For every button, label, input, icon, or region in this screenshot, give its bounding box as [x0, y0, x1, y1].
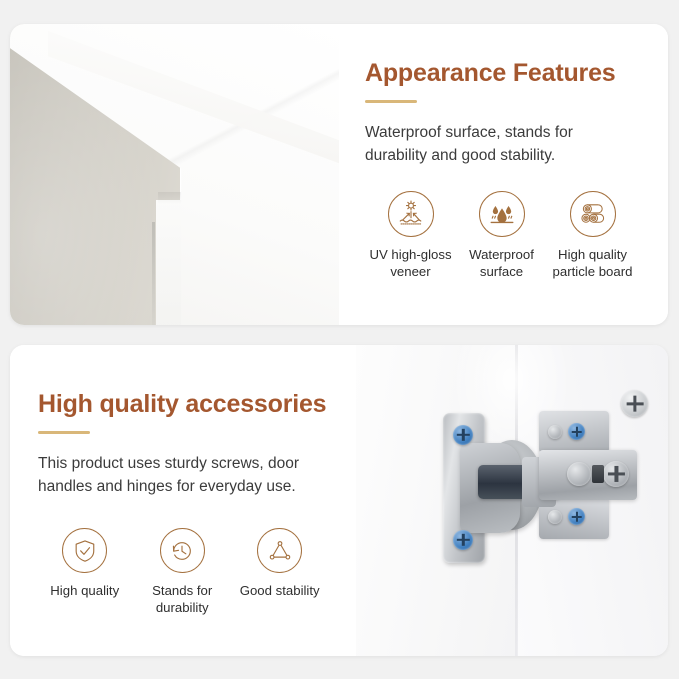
hinge-slot	[592, 465, 604, 483]
title-underline	[365, 100, 417, 103]
blue-screw-icon	[453, 530, 473, 550]
cabinet-hinge-photo	[356, 345, 668, 656]
feature-high-quality: High quality	[38, 528, 131, 616]
feature-label: UV high-gloss veneer	[365, 246, 456, 280]
cabinet-door-seam	[152, 222, 155, 325]
infographic-stage: Appearance Features Waterproof surface, …	[0, 0, 679, 679]
water-drops-icon	[479, 191, 525, 237]
adjustment-screw	[603, 461, 629, 487]
feature-good-stability: Good stability	[233, 528, 326, 616]
clock-history-icon	[160, 528, 205, 573]
appearance-feature-row: UV high-gloss veneer Wat	[365, 191, 638, 280]
accessories-feature-row: High quality Stands for durability	[38, 528, 326, 616]
high-quality-accessories-card: High quality accessories This product us…	[10, 345, 668, 656]
feature-high-quality-particle-board: High quality particle board	[547, 191, 638, 280]
feature-label: Good stability	[240, 582, 320, 599]
wood-screw-head-icon	[621, 390, 648, 417]
feature-label: Stands for durability	[135, 582, 228, 616]
blue-screw-icon	[568, 508, 585, 525]
feature-label: Waterproof surface	[456, 246, 547, 280]
uv-sun-surface-icon	[388, 191, 434, 237]
feature-uv-high-gloss-veneer: UV high-gloss veneer	[365, 191, 456, 280]
accessories-subtitle: This product uses sturdy screws, door ha…	[38, 452, 326, 499]
white-cabinet-corner-photo	[10, 24, 339, 325]
appearance-subtitle: Waterproof surface, stands for durabilit…	[365, 121, 638, 168]
page-title: Appearance Features	[365, 60, 638, 88]
blue-screw-icon	[568, 423, 585, 440]
accessories-title: High quality accessories	[38, 391, 326, 419]
shield-check-icon	[62, 528, 107, 573]
feature-label: High quality particle board	[547, 246, 638, 280]
title-underline	[38, 431, 90, 434]
accessories-text-column: High quality accessories This product us…	[10, 345, 356, 656]
blue-screw-icon	[453, 425, 473, 445]
triangle-nodes-icon	[257, 528, 302, 573]
appearance-features-card: Appearance Features Waterproof surface, …	[10, 24, 668, 325]
feature-waterproof-surface: Waterproof surface	[456, 191, 547, 280]
appearance-text-column: Appearance Features Waterproof surface, …	[339, 24, 668, 325]
feature-stands-for-durability: Stands for durability	[135, 528, 228, 616]
stacked-logs-icon	[570, 191, 616, 237]
feature-label: High quality	[50, 582, 119, 599]
